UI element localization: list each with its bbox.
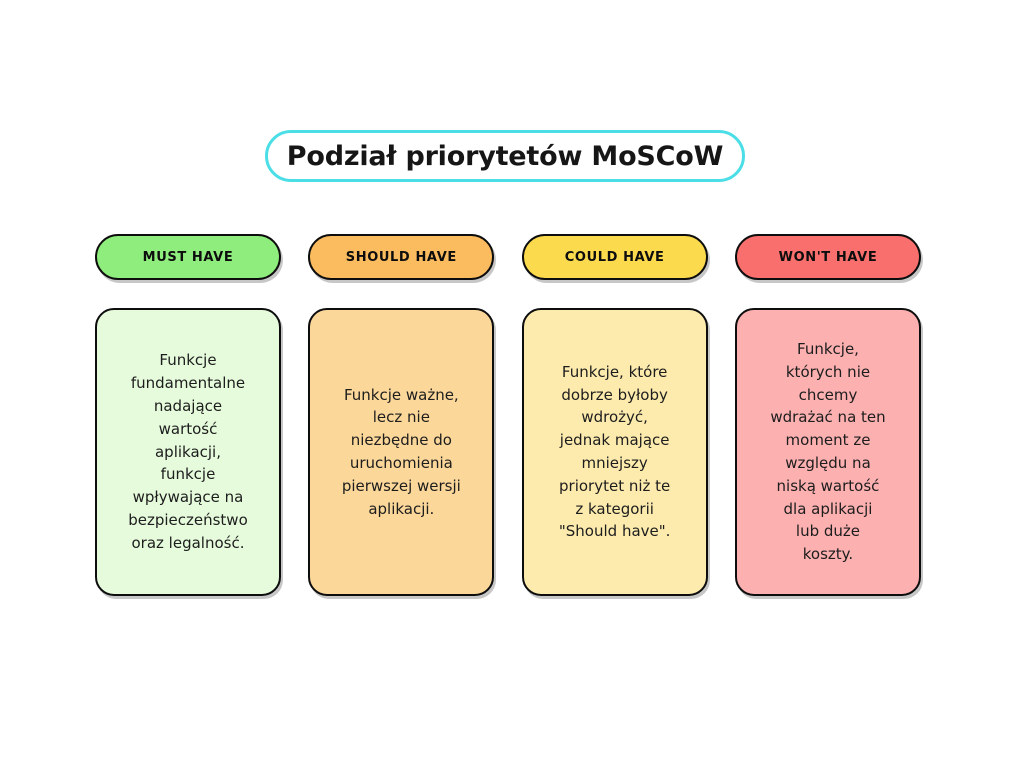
priority-card-description: Funkcje fundamentalne nadające wartość a… [128,349,248,554]
priority-card-wont-have: Funkcje, których nie chcemy wdrażać na t… [735,308,921,596]
priority-card-must-have: Funkcje fundamentalne nadające wartość a… [95,308,281,596]
priority-pill-label: SHOULD HAVE [346,251,457,264]
priority-pill-wont-have[interactable]: WON'T HAVE [735,234,921,280]
priority-column-wont-have: WON'T HAVE Funkcje, których nie chcemy w… [735,234,921,604]
priority-pill-label: MUST HAVE [143,251,234,264]
priority-card-description: Funkcje, których nie chcemy wdrażać na t… [770,338,885,566]
priority-card-should-have: Funkcje ważne, lecz nie niezbędne do uru… [308,308,494,596]
priority-column-could-have: COULD HAVE Funkcje, które dobrze byłoby … [522,234,708,604]
priority-pill-label: WON'T HAVE [779,251,878,264]
priority-pill-label: COULD HAVE [565,251,665,264]
diagram-title-badge: Podział priorytetów MoSCoW [265,130,745,182]
page-title: Podział priorytetów MoSCoW [287,143,723,170]
priority-pill-must-have[interactable]: MUST HAVE [95,234,281,280]
priority-pill-could-have[interactable]: COULD HAVE [522,234,708,280]
priority-column-must-have: MUST HAVE Funkcje fundamentalne nadające… [95,234,281,604]
priority-columns: MUST HAVE Funkcje fundamentalne nadające… [95,234,921,604]
priority-card-description: Funkcje, które dobrze byłoby wdrożyć, je… [559,361,671,543]
moscow-diagram: Podział priorytetów MoSCoW MUST HAVE Fun… [0,0,1024,768]
priority-card-could-have: Funkcje, które dobrze byłoby wdrożyć, je… [522,308,708,596]
priority-card-description: Funkcje ważne, lecz nie niezbędne do uru… [342,384,461,521]
priority-column-should-have: SHOULD HAVE Funkcje ważne, lecz nie niez… [308,234,494,604]
priority-pill-should-have[interactable]: SHOULD HAVE [308,234,494,280]
